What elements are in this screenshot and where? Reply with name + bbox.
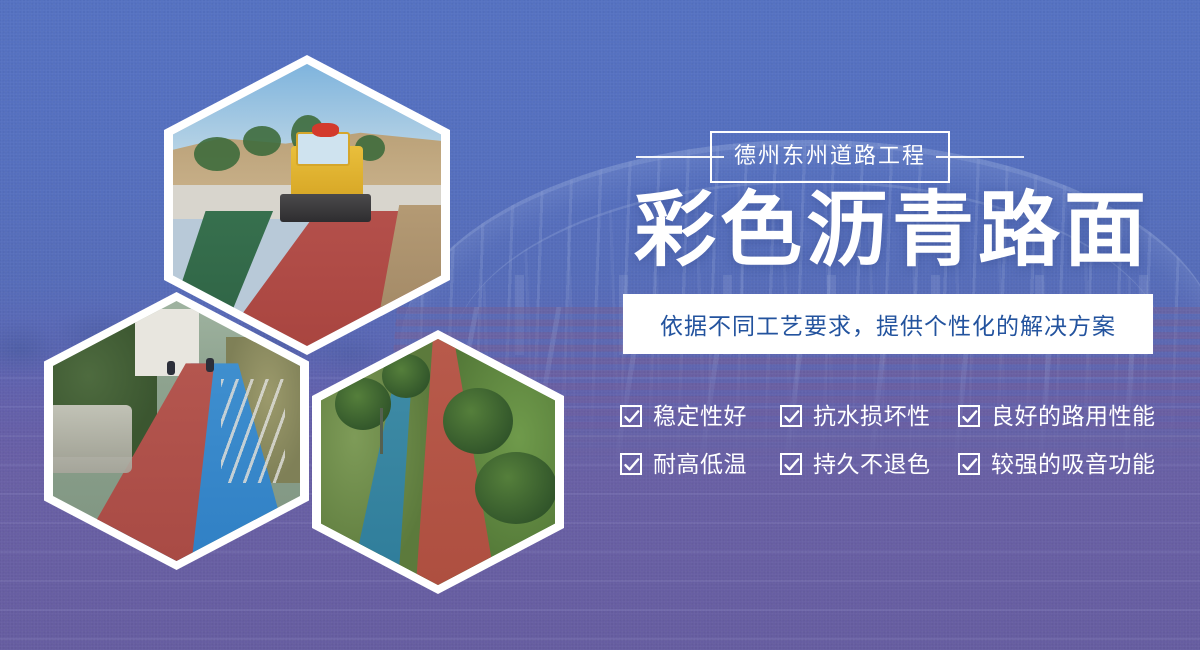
hexagon-photo-greenway-image — [321, 339, 555, 585]
feature-label-0: 稳定性好 — [653, 405, 747, 428]
photo-road-roller — [173, 64, 441, 346]
hexagon-photo-bikepath-image — [53, 301, 300, 561]
feature-item-0: 稳定性好 — [620, 405, 780, 428]
tagline-row: 德州东州道路工程 — [636, 131, 1086, 183]
photo-roadside-rocks — [53, 405, 132, 473]
check-icon — [958, 405, 980, 427]
feature-item-5: 较强的吸音功能 — [958, 453, 1180, 476]
photo-light-pole — [380, 408, 383, 454]
check-icon — [958, 453, 980, 475]
photo-greenway — [321, 339, 555, 585]
check-icon — [620, 453, 642, 475]
check-icon — [620, 405, 642, 427]
check-icon — [780, 405, 802, 427]
feature-label-2: 良好的路用性能 — [991, 405, 1156, 428]
photo-roller-drum — [280, 194, 371, 222]
photo-tree — [382, 354, 430, 398]
feature-label-3: 耐高低温 — [653, 453, 747, 476]
photo-tree — [475, 452, 555, 524]
feature-item-2: 良好的路用性能 — [958, 405, 1180, 428]
feature-list: 稳定性好 抗水损坏性 良好的路用性能 耐 — [620, 392, 1180, 488]
feature-label-4: 持久不退色 — [813, 453, 931, 476]
photo-guardrail — [221, 379, 285, 483]
photo-roller-light — [312, 123, 339, 137]
photo-bush — [243, 126, 281, 156]
headline: 彩色沥青路面 — [634, 187, 1150, 276]
subtitle-text: 依据不同工艺要求，提供个性化的解决方案 — [660, 307, 1116, 341]
feature-label-1: 抗水损坏性 — [813, 405, 931, 428]
promo-banner: 德州东州道路工程 彩色沥青路面 依据不同工艺要求，提供个性化的解决方案 稳定性好… — [0, 0, 1200, 650]
subtitle-box: 依据不同工艺要求，提供个性化的解决方案 — [623, 294, 1153, 354]
feature-item-4: 持久不退色 — [780, 453, 958, 476]
feature-label-5: 较强的吸音功能 — [991, 453, 1156, 476]
tagline-box: 德州东州道路工程 — [710, 131, 950, 183]
feature-item-1: 抗水损坏性 — [780, 405, 958, 428]
photo-tree — [443, 388, 513, 454]
hexagon-photo-roller-image — [173, 64, 441, 346]
check-icon — [780, 453, 802, 475]
tagline-text: 德州东州道路工程 — [734, 145, 926, 167]
feature-item-3: 耐高低温 — [620, 453, 780, 476]
photo-bike-path — [53, 301, 300, 561]
photo-rider — [206, 358, 214, 372]
photo-rider — [167, 361, 175, 375]
